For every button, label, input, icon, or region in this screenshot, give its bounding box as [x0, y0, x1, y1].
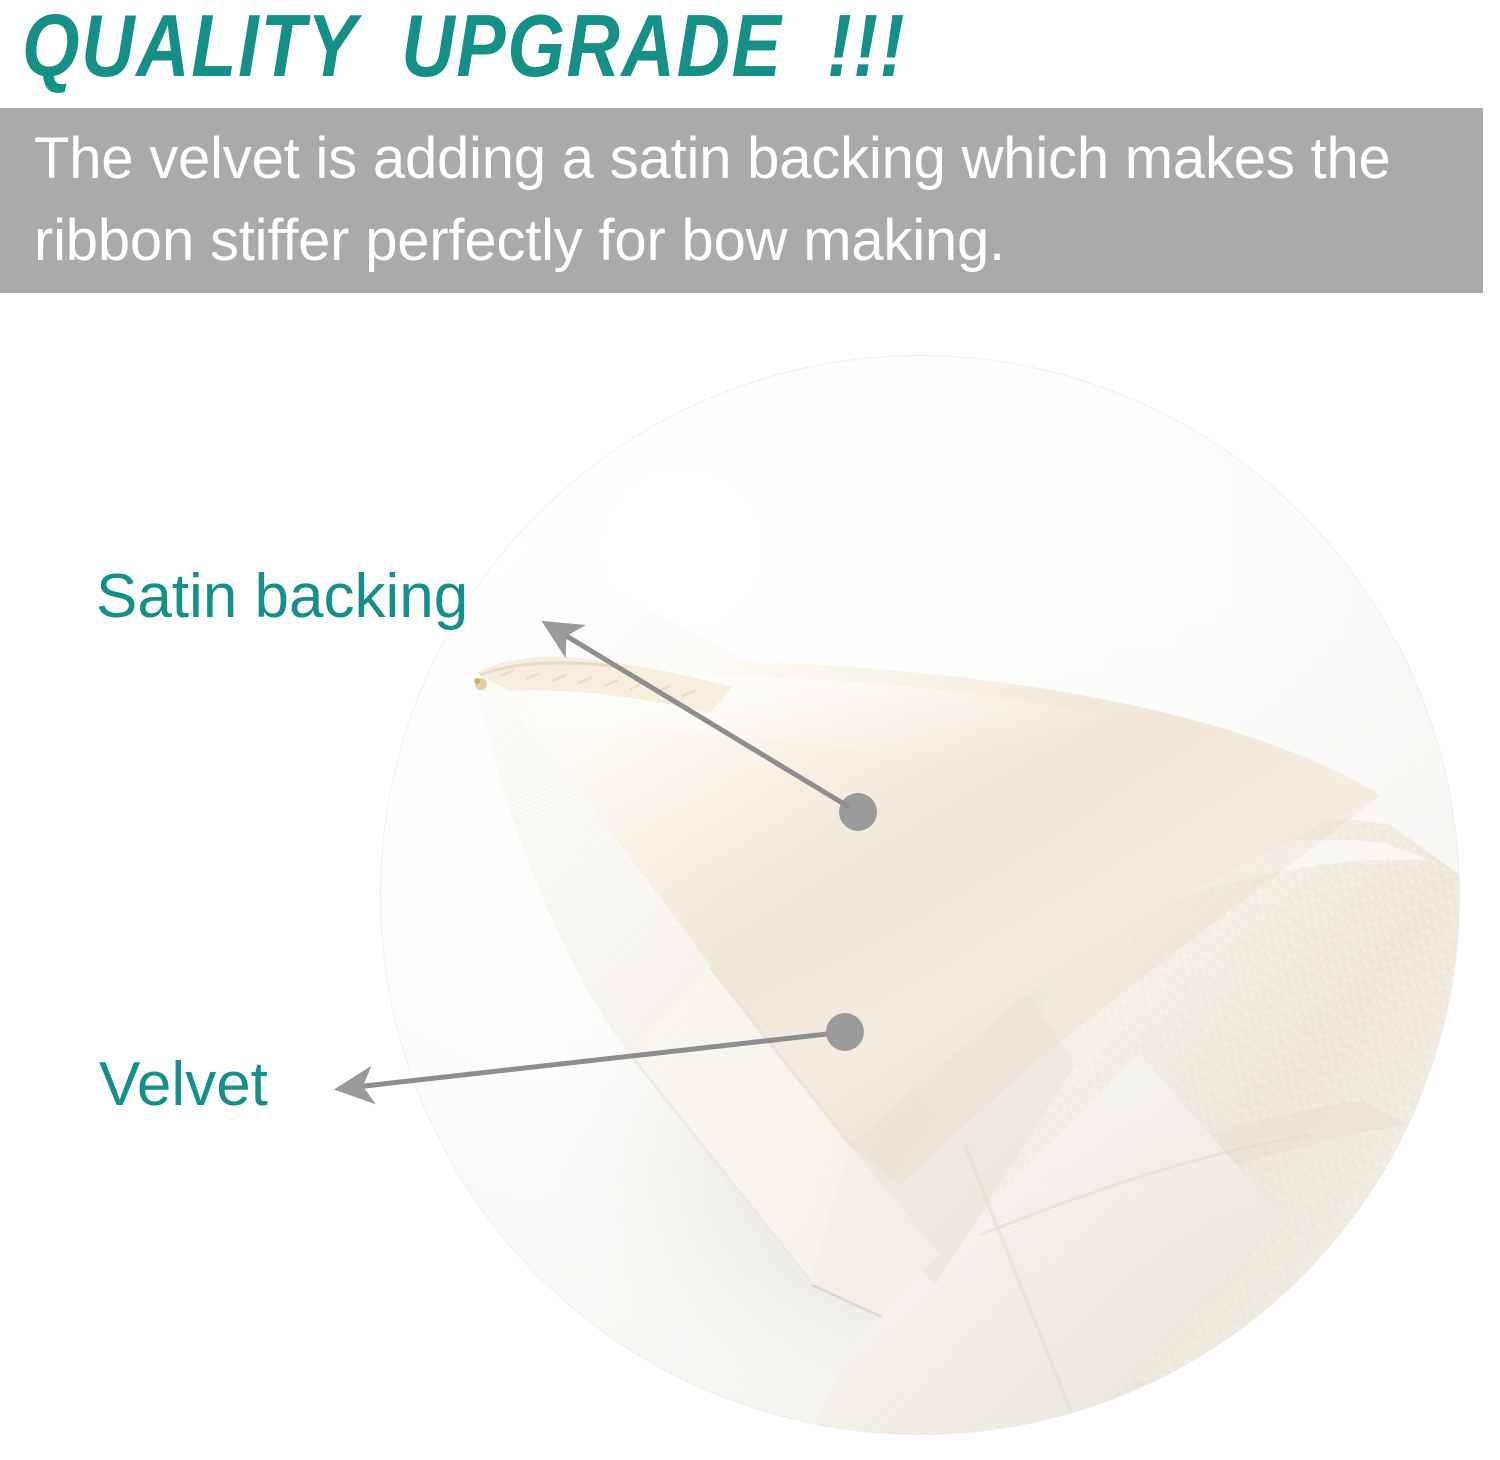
product-infographic: QUALITY UPGRADE !!! The velvet is adding…	[0, 0, 1500, 1460]
callout-label-satin-backing: Satin backing	[96, 562, 468, 632]
description-banner: The velvet is adding a satin backing whi…	[0, 108, 1483, 293]
product-photo	[380, 355, 1460, 1435]
description-text: The velvet is adding a satin backing whi…	[34, 118, 1464, 282]
callout-label-velvet: Velvet	[99, 1050, 268, 1120]
fabric-illustration	[380, 355, 1460, 1435]
page-title: QUALITY UPGRADE !!!	[22, 0, 1030, 94]
